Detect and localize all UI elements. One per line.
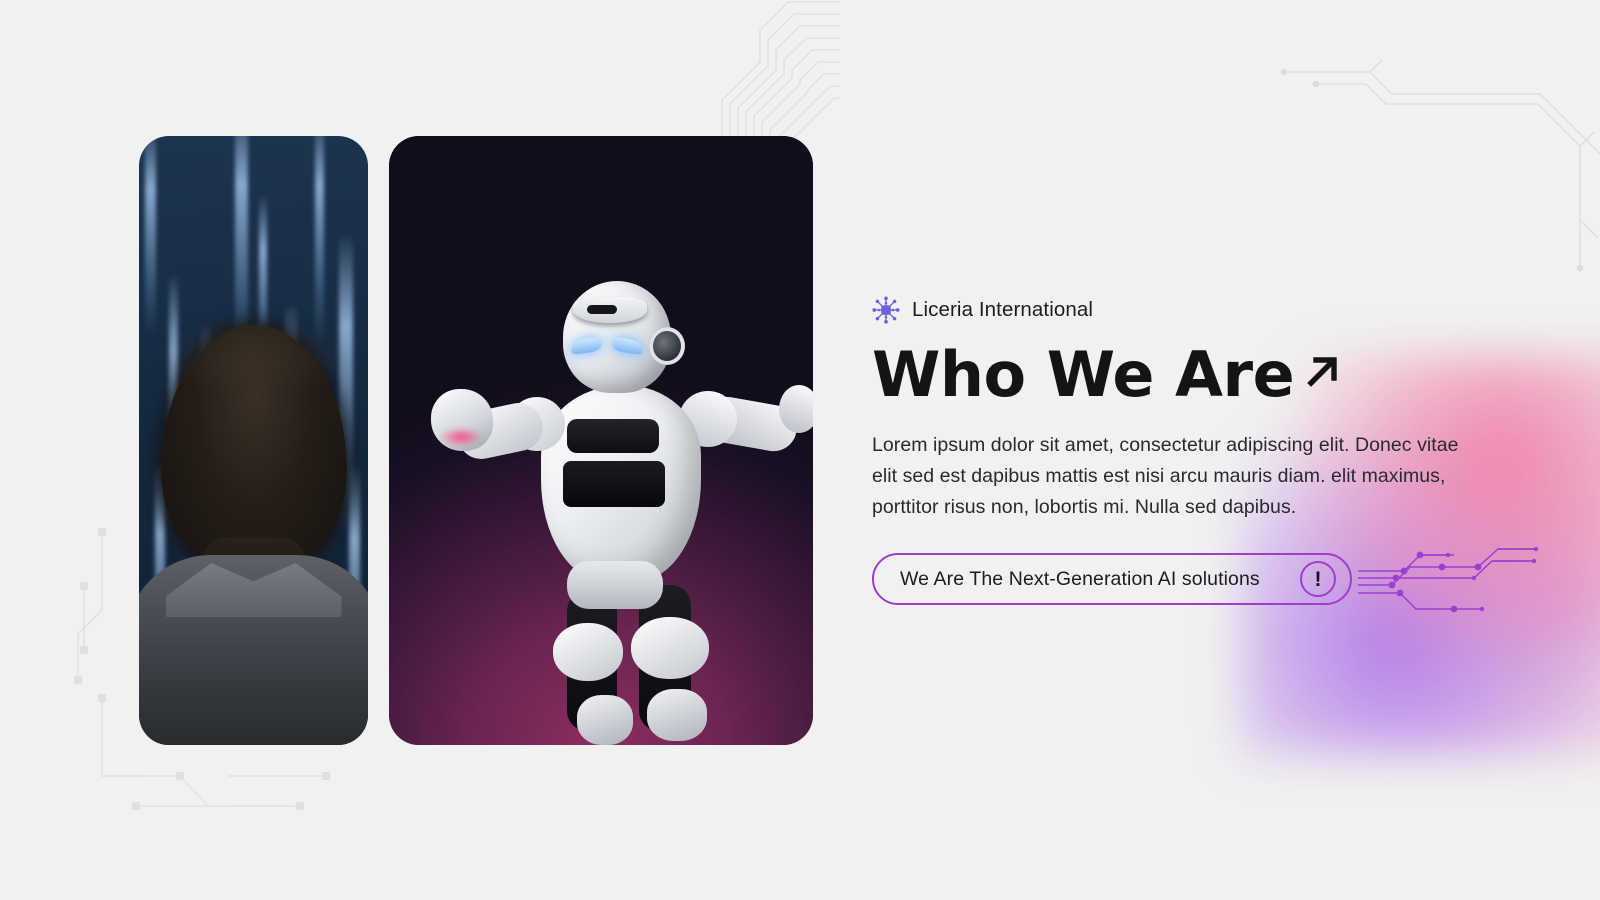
page-title-text: Who We Are [872,344,1294,406]
chip-network-icon [872,296,900,324]
brand-row: Liceria International [872,296,1492,324]
robot-figure [391,281,811,745]
robot-photo [389,136,813,745]
circuit-decoration-top-center [660,0,840,150]
brand-name: Liceria International [912,298,1093,322]
person-photo [139,136,368,745]
body-paragraph: Lorem ipsum dolor sit amet, consectetur … [872,430,1486,523]
content-column: Liceria International Who We Are Lorem i… [872,296,1492,605]
circuit-decoration-top-right [1280,60,1600,300]
cta-area: We Are The Next-Generation AI solutions … [872,553,1352,605]
arrow-up-right-icon [1300,350,1344,394]
cta-button[interactable]: We Are The Next-Generation AI solutions … [872,553,1352,605]
page-title: Who We Are [872,344,1492,406]
exclamation-mark-icon[interactable]: ! [1300,561,1336,597]
circuit-decoration-cta [1358,547,1538,619]
image-card-person [139,136,368,745]
cta-button-label: We Are The Next-Generation AI solutions [900,568,1260,591]
person-silhouette [139,325,368,745]
image-card-robot [389,136,813,745]
